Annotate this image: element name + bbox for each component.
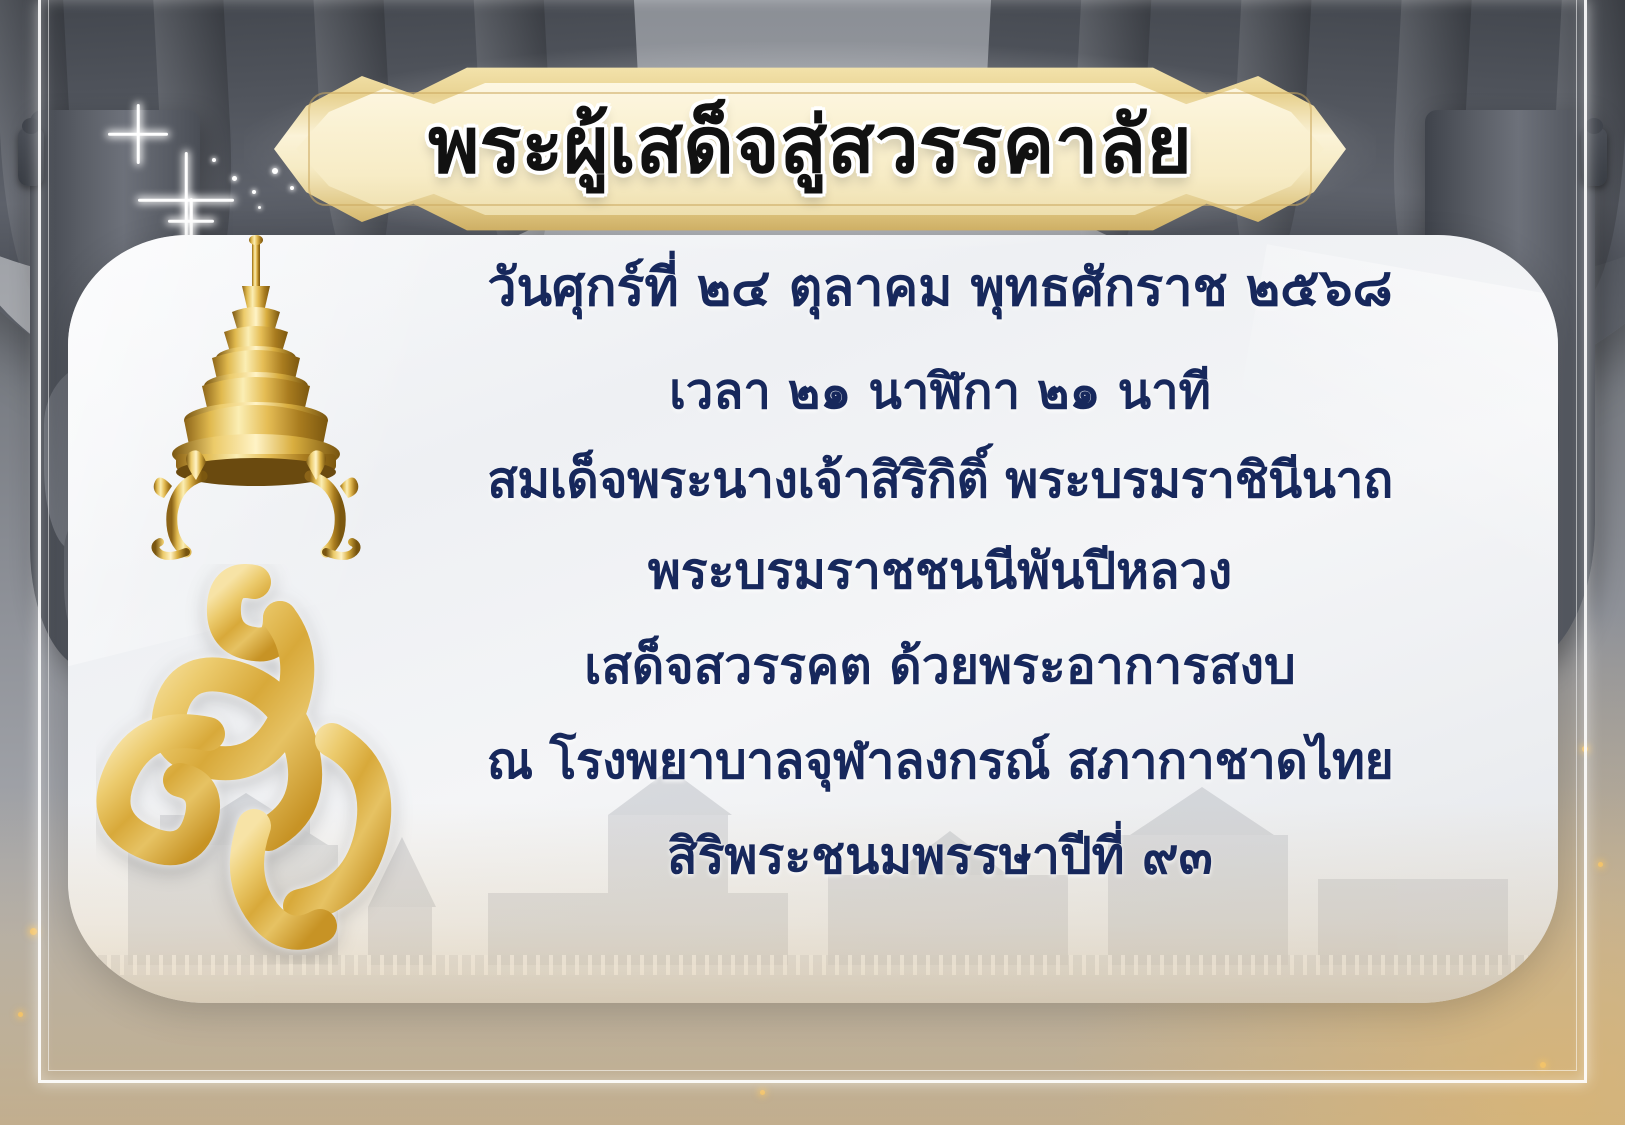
memorial-card: พระผู้เสด็จสู่สวรรคาลัย วันศุกร์ที่ ๒๔ ต…	[0, 0, 1625, 1125]
announcement-text-block: วันศุกร์ที่ ๒๔ ตุลาคม พุทธศักราช ๒๕๖๘ เว…	[400, 262, 1480, 962]
announcement-line-3: สมเด็จพระนางเจ้าสิริกิติ์ พระบรมราชินีนา…	[400, 455, 1480, 506]
title-banner: พระผู้เสด็จสู่สวรรคาลัย	[274, 66, 1346, 232]
announcement-line-7: สิริพระชนมพรรษาปีที่ ๙๓	[400, 831, 1480, 882]
announcement-line-6: ณ โรงพยาบาลจุฬาลงกรณ์ สภากาชาดไทย	[400, 736, 1480, 787]
banner-title-text: พระผู้เสด็จสู่สวรรคาลัย	[274, 66, 1346, 232]
gold-sparkle	[18, 1012, 23, 1017]
announcement-line-4: พระบรมราชชนนีพันปีหลวง	[400, 546, 1480, 597]
announcement-line-5: เสด็จสวรรคต ด้วยพระอาการสงบ	[400, 641, 1480, 692]
royal-cypher-emblem	[96, 234, 416, 954]
gold-sparkle	[30, 928, 37, 935]
royal-crown-icon	[146, 234, 366, 594]
announcement-line-2: เวลา ๒๑ นาฬิกา ๒๑ นาที	[400, 367, 1480, 417]
announcement-line-1: วันศุกร์ที่ ๒๔ ตุลาคม พุทธศักราช ๒๕๖๘	[400, 262, 1480, 315]
gold-sparkle	[760, 1090, 765, 1095]
gold-sparkle	[1598, 862, 1603, 867]
royal-monogram-sor-kor	[96, 564, 416, 964]
